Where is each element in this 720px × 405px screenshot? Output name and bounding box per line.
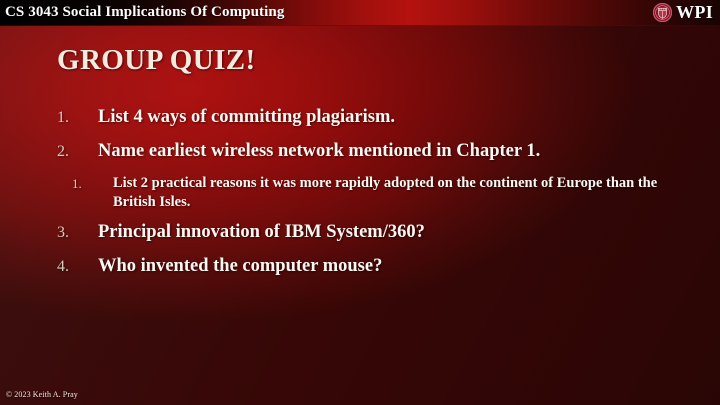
question-number: 1.: [57, 106, 98, 129]
question-text: Who invented the computer mouse?: [98, 255, 382, 278]
presentation-slide: CS 3043 Social Implications Of Computing…: [0, 0, 720, 405]
quiz-question-2: 2. Name earliest wireless network mentio…: [57, 140, 677, 163]
quiz-question-1: 1. List 4 ways of committing plagiarism.: [57, 106, 677, 129]
course-title: CS 3043 Social Implications Of Computing: [5, 2, 284, 23]
copyright-notice: © 2023 Keith A. Pray: [6, 390, 78, 399]
quiz-subquestion-2-1: 1. List 2 practical reasons it was more …: [72, 174, 677, 212]
question-text: List 4 ways of committing plagiarism.: [98, 106, 395, 129]
wpi-seal-icon: [653, 3, 672, 22]
question-number: 2.: [57, 140, 98, 163]
question-number: 3.: [57, 221, 98, 244]
quiz-subquestion-list: 1. List 2 practical reasons it was more …: [57, 174, 677, 212]
wpi-logo: WPI: [653, 1, 713, 24]
slide-title: GROUP QUIZ!: [57, 44, 256, 77]
question-text: Name earliest wireless network mentioned…: [98, 140, 540, 163]
subquestion-number: 1.: [72, 174, 113, 193]
question-number: 4.: [57, 255, 98, 278]
question-text: Principal innovation of IBM System/360?: [98, 221, 425, 244]
quiz-question-3: 3. Principal innovation of IBM System/36…: [57, 221, 677, 244]
quiz-question-4: 4. Who invented the computer mouse?: [57, 255, 677, 278]
subquestion-text: List 2 practical reasons it was more rap…: [113, 174, 665, 212]
header-underline: [0, 25, 720, 26]
quiz-question-list: 1. List 4 ways of committing plagiarism.…: [57, 106, 677, 289]
wpi-wordmark: WPI: [676, 3, 713, 22]
